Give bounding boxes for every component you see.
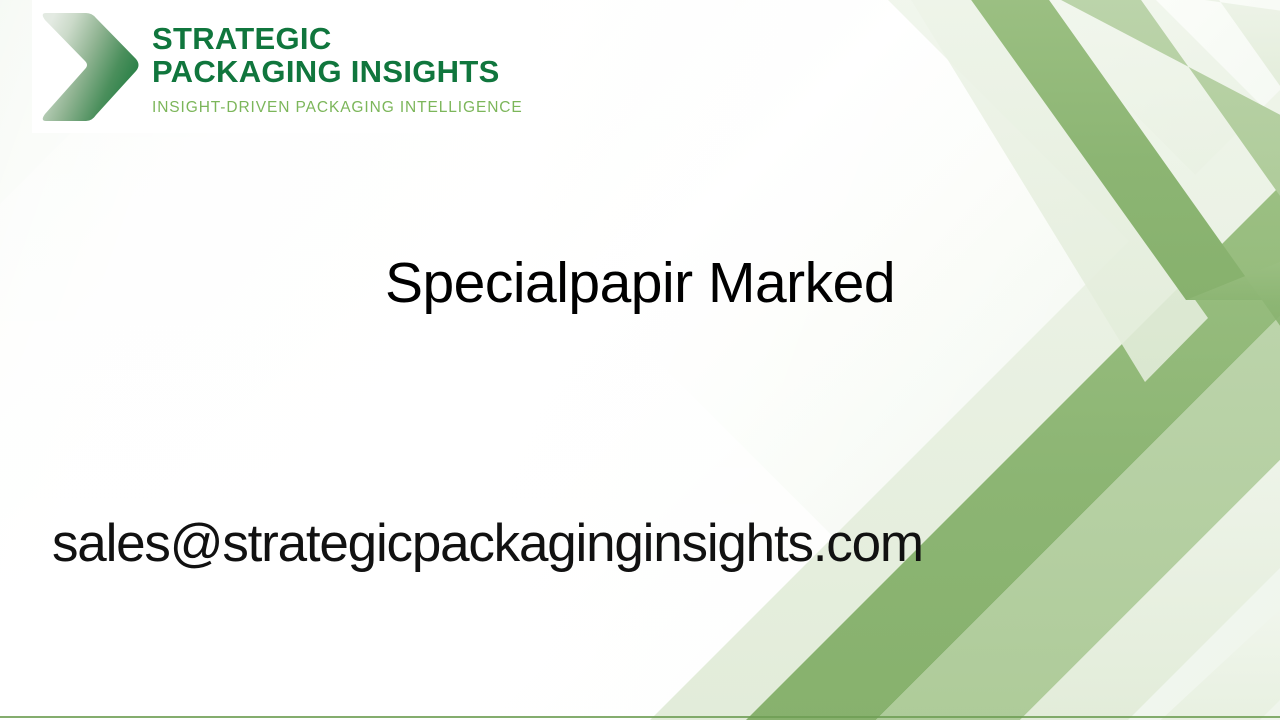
title-slide: STRATEGIC PACKAGING INSIGHTS INSIGHT-DRI…	[0, 0, 1280, 720]
wordmark-line-2: PACKAGING INSIGHTS	[152, 55, 523, 88]
page-title: Specialpapir Marked	[0, 248, 1280, 318]
contact-email[interactable]: sales@strategicpackaginginsights.com	[52, 511, 923, 577]
chevron-right-icon	[40, 7, 144, 127]
brand-logo-text: STRATEGIC PACKAGING INSIGHTS INSIGHT-DRI…	[152, 18, 523, 116]
wordmark-line-1: STRATEGIC	[152, 22, 523, 55]
brand-tagline: INSIGHT-DRIVEN PACKAGING INTELLIGENCE	[152, 99, 523, 116]
bottom-accent-rule	[0, 716, 1280, 718]
brand-logo: STRATEGIC PACKAGING INSIGHTS INSIGHT-DRI…	[32, 0, 540, 133]
